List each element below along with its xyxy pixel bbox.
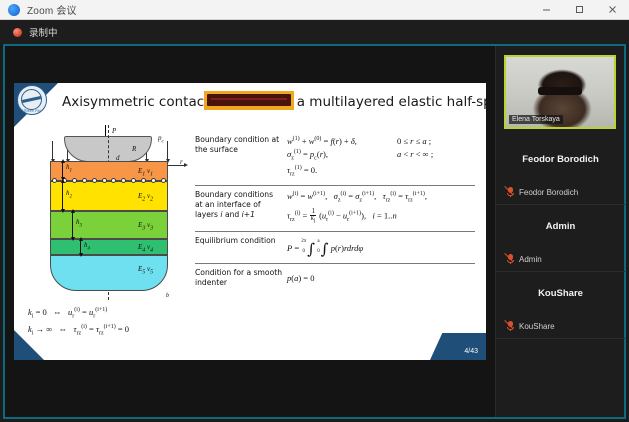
- boundary-conditions-table: Boundary condition at the surface w(1) +…: [195, 131, 475, 293]
- recording-bar: 录制中: [0, 20, 629, 44]
- radial-axis-label: r: [180, 158, 183, 166]
- height-arrow-1: [62, 163, 63, 177]
- participant-display-name: Feodor Borodich: [496, 154, 625, 165]
- condition-label-surface: Boundary condition at the surface: [195, 135, 287, 155]
- layer-4: E4 v4: [50, 239, 168, 255]
- condition-row-equilibrium: Equilibrium condition P = 2π 0∫ a 0∫ p(r…: [195, 231, 475, 263]
- layer-4-label: E4 v4: [138, 243, 153, 253]
- mic-muted-icon[interactable]: [506, 321, 515, 331]
- minimize-icon[interactable]: [530, 0, 563, 20]
- participants-rail: Elena Torskaya Feodor Borodich Feodor Bo…: [495, 46, 624, 417]
- condition-label-smooth-indenter: Condition for a smooth indenter: [195, 268, 287, 288]
- figure-diagram: P pc R d r E1 v1: [28, 125, 186, 300]
- condition-equations-smooth-indenter: p(a) = 0: [287, 268, 475, 285]
- mic-muted-icon[interactable]: [506, 187, 515, 197]
- height-arrow-3: [72, 213, 73, 237]
- height-label-4: h4: [84, 241, 90, 251]
- window-titlebar: Zoom 会议: [0, 0, 629, 20]
- layered-halfspace-figure: P pc R d r E1 v1: [28, 125, 186, 350]
- pressure-label: pc: [158, 134, 164, 144]
- slide-page-number: 4/43: [464, 348, 478, 355]
- condition-row-interface: Boundary conditions at an interface of l…: [195, 185, 475, 230]
- figure-equivalences: ki = 0 ⇔ ur(i) = ur(i+1) ki → ∞ ⇔ τrz(i)…: [28, 305, 203, 339]
- participant-list-name: Admin: [519, 255, 542, 264]
- maximize-icon[interactable]: [563, 0, 596, 20]
- list-item[interactable]: Admin Admin: [496, 205, 625, 272]
- radius-label: R: [132, 145, 136, 153]
- slide-corner-decoration-bottom-right: [430, 333, 486, 360]
- condition-label-interface: Boundary conditions at an interface of l…: [195, 190, 287, 220]
- equivalence-1: ki = 0 ⇔ ur(i) = ur(i+1): [28, 305, 203, 322]
- interface-rollers-icon: [50, 177, 168, 184]
- participant-list: Feodor Borodich Feodor Borodich Admin: [496, 138, 625, 339]
- condition-row-smooth-indenter: Condition for a smooth indenter p(a) = 0: [195, 263, 475, 293]
- shared-screen-area[interactable]: 4/43 ИПМех РАН Axisymmetric contact prob…: [5, 46, 495, 417]
- annotation-scribble-ink: [207, 94, 291, 106]
- figure-panel-label: b: [166, 293, 169, 299]
- participant-footer: Feodor Borodich: [506, 187, 578, 197]
- condition-equations-equilibrium: P = 2π 0∫ a 0∫ p(r)rdrdφ: [287, 236, 475, 258]
- active-speaker-thumbnail[interactable]: Elena Torskaya: [504, 55, 616, 129]
- layer-1-label: E1 v1: [138, 167, 153, 177]
- institute-logo-icon: ИПМех РАН: [17, 85, 47, 115]
- recording-dot-icon: [13, 28, 22, 37]
- participant-display-name: Admin: [496, 221, 625, 232]
- zoom-meeting-window: Zoom 会议 录制中 4/43 ИП: [0, 0, 629, 422]
- layer-5-halfspace: E5 v5: [50, 255, 168, 291]
- condition-label-equilibrium: Equilibrium condition: [195, 236, 287, 246]
- height-label-1: h1: [66, 163, 72, 173]
- list-item[interactable]: KouShare KouShare: [496, 272, 625, 339]
- mic-muted-icon[interactable]: [506, 254, 515, 264]
- participant-list-name: Feodor Borodich: [519, 188, 578, 197]
- close-icon[interactable]: [596, 0, 629, 20]
- meeting-stage: 4/43 ИПМех РАН Axisymmetric contact prob…: [3, 44, 626, 419]
- recording-label: 录制中: [29, 25, 58, 39]
- height-arrow-2: [62, 183, 63, 209]
- layer-3-label: E3 v3: [138, 221, 153, 231]
- layer-3: E3 v3: [50, 211, 168, 239]
- height-arrow-4: [80, 241, 81, 253]
- condition-equations-surface: w(1) + w(0) = f(r) + δ, 0 ≤ r ≤ a ; σz(1…: [287, 135, 475, 180]
- zoom-logo-icon: [8, 4, 20, 16]
- load-label: P: [112, 127, 116, 135]
- layer-2-label: E2 v2: [138, 192, 153, 202]
- participant-list-name: KouShare: [519, 322, 555, 331]
- equivalence-2: ki → ∞ ⇔ τrz(i) = τrz(i+1) = 0: [28, 322, 203, 339]
- presentation-slide[interactable]: 4/43 ИПМех РАН Axisymmetric contact prob…: [14, 83, 486, 360]
- window-title: Zoom 会议: [27, 2, 77, 17]
- list-item[interactable]: Feodor Borodich Feodor Borodich: [496, 138, 625, 205]
- height-label-3: h3: [76, 218, 82, 228]
- participant-footer: KouShare: [506, 321, 555, 331]
- active-speaker-name: Elena Torskaya: [509, 115, 563, 124]
- participant-display-name: KouShare: [496, 288, 625, 299]
- condition-row-surface: Boundary condition at the surface w(1) +…: [195, 131, 475, 185]
- participant-footer: Admin: [506, 254, 542, 264]
- condition-equations-interface: w(i) = w(i+1), σz(i) = σz(i+1), τrz(i) =…: [287, 190, 475, 225]
- layer-5-label: E5 v5: [138, 265, 153, 275]
- logo-text: ИПМех РАН: [18, 109, 46, 113]
- height-label-2: h2: [66, 189, 72, 199]
- sunglasses-icon: [538, 87, 581, 95]
